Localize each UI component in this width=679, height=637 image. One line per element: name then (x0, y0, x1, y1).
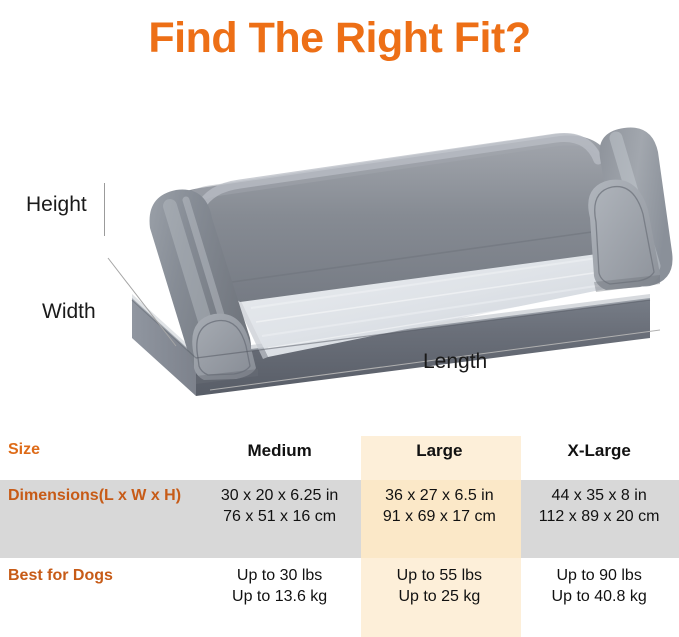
row-label-best-for-dogs: Best for Dogs (0, 566, 200, 586)
column-header-medium: Medium (200, 440, 360, 462)
table-row-size: Size Medium Large X-Large (0, 440, 679, 480)
column-header-large: Large (359, 440, 519, 462)
dimension-label-length: Length (423, 350, 487, 374)
cell-line-cm: 112 x 89 x 20 cm (519, 507, 679, 528)
cell-line-lbs: Up to 55 lbs (359, 566, 519, 587)
page-title: Find The Right Fit? (148, 17, 530, 60)
cell-line-lbs: Up to 30 lbs (200, 566, 360, 587)
cell-dimensions-xlarge: 44 x 35 x 8 in 112 x 89 x 20 cm (519, 486, 679, 528)
column-header-xlarge: X-Large (519, 440, 679, 462)
cell-dimensions-large: 36 x 27 x 6.5 in 91 x 69 x 17 cm (359, 486, 519, 528)
cell-weight-large: Up to 55 lbs Up to 25 kg (359, 566, 519, 608)
row-label-dimensions: Dimensions(L x W x H) (0, 486, 200, 506)
cell-line-kg: Up to 40.8 kg (519, 587, 679, 608)
size-comparison-table: Size Medium Large X-Large Dimensions(L x… (0, 428, 679, 637)
cell-dimensions-medium: 30 x 20 x 6.25 in 76 x 51 x 16 cm (200, 486, 360, 528)
headline-bar: Find The Right Fit? (0, 0, 679, 76)
cell-line-in: 44 x 35 x 8 in (519, 486, 679, 507)
cell-line-cm: 76 x 51 x 16 cm (200, 507, 360, 528)
cell-weight-medium: Up to 30 lbs Up to 13.6 kg (200, 566, 360, 608)
dog-bed-image (0, 76, 679, 428)
cell-line-kg: Up to 25 kg (359, 587, 519, 608)
table-row-dimensions: Dimensions(L x W x H) 30 x 20 x 6.25 in … (0, 486, 679, 558)
table-row-best-for-dogs: Best for Dogs Up to 30 lbs Up to 13.6 kg… (0, 566, 679, 626)
dimension-label-width: Width (42, 300, 96, 324)
cell-line-kg: Up to 13.6 kg (200, 587, 360, 608)
cell-line-in: 30 x 20 x 6.25 in (200, 486, 360, 507)
product-illustration: Height Width Length (0, 76, 679, 428)
height-guide-line (104, 183, 105, 236)
cell-weight-xlarge: Up to 90 lbs Up to 40.8 kg (519, 566, 679, 608)
cell-line-lbs: Up to 90 lbs (519, 566, 679, 587)
row-label-size: Size (0, 440, 200, 460)
cell-line-in: 36 x 27 x 6.5 in (359, 486, 519, 507)
dimension-label-height: Height (26, 193, 87, 217)
cell-line-cm: 91 x 69 x 17 cm (359, 507, 519, 528)
